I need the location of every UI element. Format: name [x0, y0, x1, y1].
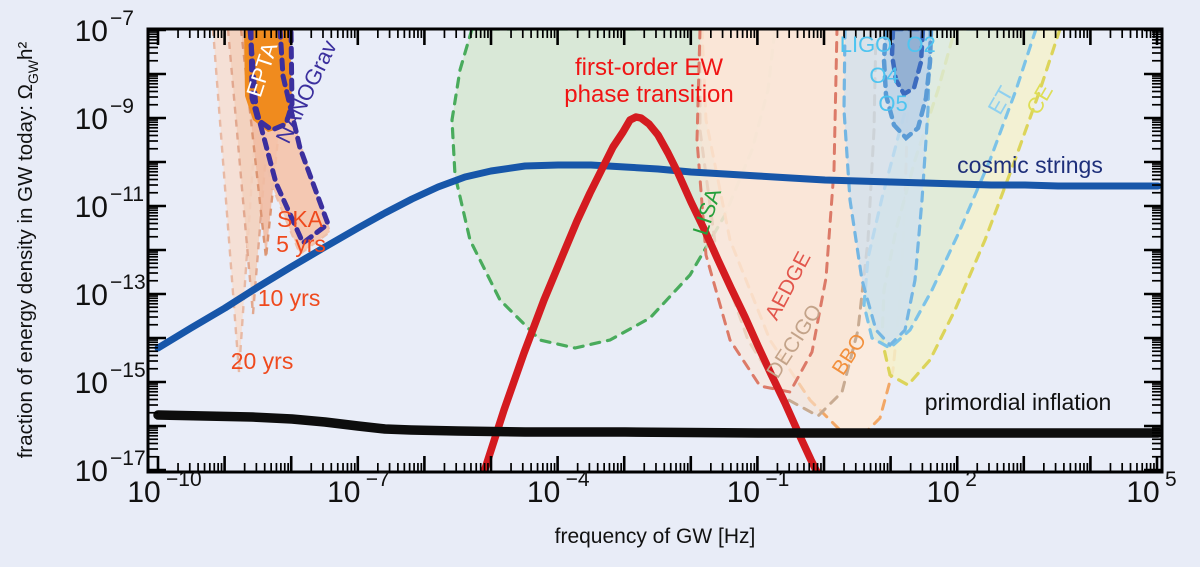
- svg-text:10: 10: [127, 476, 160, 509]
- svg-text:10: 10: [527, 476, 560, 509]
- svg-text:20 yrs: 20 yrs: [231, 348, 294, 374]
- svg-text:10: 10: [75, 455, 108, 488]
- svg-text:O5: O5: [878, 91, 907, 116]
- annotation-ligo: LIGO: [840, 32, 893, 57]
- svg-text:−17: −17: [110, 447, 146, 470]
- gw-spectrum-chart: 10−1010−710−410−1102105 10−710−910−1110−…: [0, 0, 1200, 567]
- svg-text:−4: −4: [566, 468, 590, 491]
- svg-text:primordial inflation: primordial inflation: [925, 389, 1112, 415]
- svg-text:O4: O4: [869, 63, 898, 88]
- y-axis-title: fraction of energy density in GW today: …: [14, 42, 41, 459]
- svg-text:10: 10: [1126, 476, 1159, 509]
- svg-text:phase transition: phase transition: [564, 81, 733, 108]
- svg-text:−1: −1: [765, 468, 789, 491]
- svg-text:5: 5: [1165, 468, 1177, 491]
- annotation-ewpt2: phase transition: [564, 81, 733, 108]
- annotation-ska: SKA: [277, 206, 324, 232]
- svg-text:2: 2: [965, 468, 977, 491]
- svg-text:10: 10: [75, 279, 108, 312]
- figure-root: 10−1010−710−410−1102105 10−710−910−1110−…: [0, 0, 1200, 567]
- svg-text:−10: −10: [166, 468, 202, 491]
- svg-text:first-order EW: first-order EW: [575, 54, 723, 81]
- annotation-ska5: 5 yrs: [276, 231, 326, 257]
- svg-text:SKA: SKA: [277, 206, 324, 232]
- svg-text:O2: O2: [906, 32, 935, 57]
- svg-text:−13: −13: [110, 271, 146, 294]
- annotation-ewpt1: first-order EW: [575, 54, 723, 81]
- svg-text:10: 10: [75, 15, 108, 48]
- svg-text:−7: −7: [366, 468, 390, 491]
- annotation-o2: O2: [906, 32, 935, 57]
- svg-text:5 yrs: 5 yrs: [276, 231, 326, 257]
- svg-text:−11: −11: [110, 183, 144, 206]
- svg-text:10 yrs: 10 yrs: [258, 285, 321, 311]
- annotation-primordial-inflation: primordial inflation: [925, 389, 1112, 415]
- svg-text:LIGO: LIGO: [840, 32, 893, 57]
- annotation-o5: O5: [878, 91, 907, 116]
- svg-text:−7: −7: [110, 7, 134, 30]
- svg-text:10: 10: [75, 367, 108, 400]
- svg-text:cosmic strings: cosmic strings: [957, 152, 1103, 178]
- x-axis-title: frequency of GW [Hz]: [555, 525, 756, 548]
- svg-text:10: 10: [327, 476, 360, 509]
- svg-text:10: 10: [927, 476, 960, 509]
- svg-text:10: 10: [75, 103, 108, 136]
- svg-text:−15: −15: [110, 359, 146, 382]
- svg-text:fraction of energy density in: fraction of energy density in GW today: …: [14, 42, 41, 459]
- chart-canvas: 10−1010−710−410−1102105 10−710−910−1110−…: [0, 0, 1200, 567]
- annotation-ska10: 10 yrs: [258, 285, 321, 311]
- svg-text:−9: −9: [110, 95, 134, 118]
- annotation-cosmic-strings: cosmic strings: [957, 152, 1103, 178]
- svg-text:10: 10: [727, 476, 760, 509]
- annotation-o4: O4: [869, 63, 898, 88]
- annotation-ska20: 20 yrs: [231, 348, 294, 374]
- svg-text:10: 10: [75, 191, 108, 224]
